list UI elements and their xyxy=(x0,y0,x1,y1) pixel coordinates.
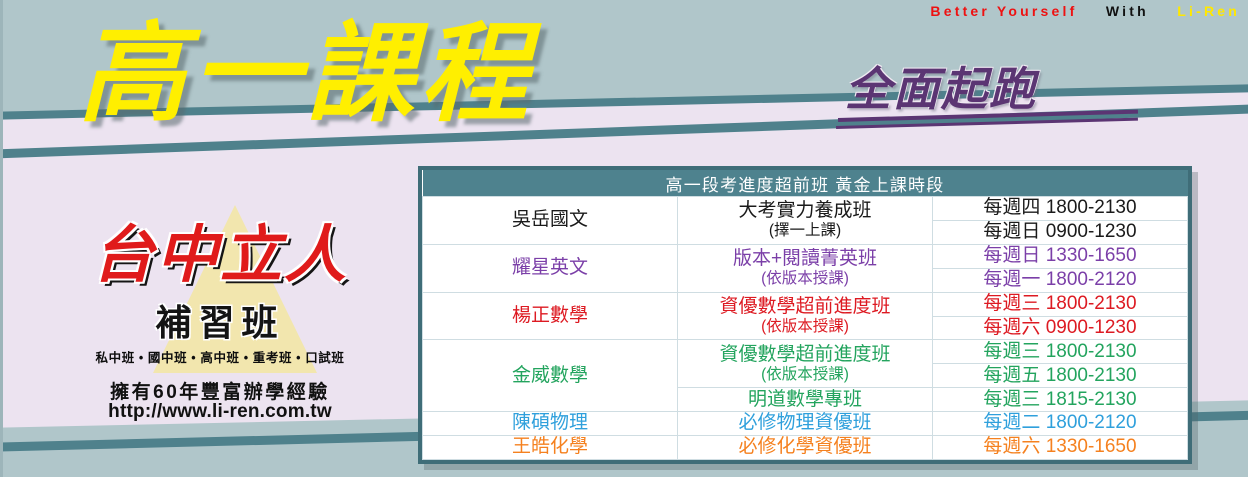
teacher-cell: 耀星英文 xyxy=(423,244,678,292)
course-name: 版本+閱讀菁英班 xyxy=(733,248,877,269)
time-slot-cell: 每週六 0900-1230 xyxy=(933,316,1188,340)
course-cell: 必修化學資優班 xyxy=(678,436,933,460)
schedule-table-head: 高一段考進度超前班 黃金上課時段 xyxy=(423,170,1188,197)
table-row: 王皓化學必修化學資優班每週六 1330-1650 xyxy=(423,436,1188,460)
time-slot-cell: 每週三 1815-2130 xyxy=(933,388,1188,412)
schedule-header-title: 高一段考進度超前班 黃金上課時段 xyxy=(423,170,1188,197)
course-name: 資優數學超前進度班 xyxy=(719,344,890,365)
logo-experience-text: 擁有60年豐富辦學經驗 xyxy=(55,377,385,404)
course-cell: 資優數學超前進度班(依版本授課) xyxy=(678,340,933,388)
teacher-cell: 楊正數學 xyxy=(423,292,678,340)
tagline-yellow: Li-Ren xyxy=(1177,3,1240,19)
page-title: 高一課程 xyxy=(78,18,534,131)
schedule-table: 高一段考進度超前班 黃金上課時段 吳岳國文大考實力養成班(擇一上課)每週四 18… xyxy=(422,170,1188,460)
table-row: 陳碩物理必修物理資優班每週二 1800-2120 xyxy=(423,412,1188,436)
teacher-cell: 金威數學 xyxy=(423,340,678,412)
course-cell: 版本+閱讀菁英班(依版本授課) xyxy=(678,244,933,292)
tagline-red: Better Yourself xyxy=(930,3,1077,19)
tagline-black: With xyxy=(1106,3,1149,19)
course-name: 明道數學專班 xyxy=(748,389,862,410)
time-slot-cell: 每週五 1800-2130 xyxy=(933,364,1188,388)
table-row: 吳岳國文大考實力養成班(擇一上課)每週四 1800-2130 xyxy=(423,197,1188,221)
course-cell: 資優數學超前進度班(依版本授課) xyxy=(678,292,933,340)
logo-class-types: 私中班 • 國中班 • 高中班 • 重考班 • 口試班 xyxy=(55,347,385,366)
course-note: (依版本授課) xyxy=(680,270,930,288)
course-name: 必修物理資優班 xyxy=(738,412,871,433)
teacher-cell: 陳碩物理 xyxy=(423,412,678,436)
table-row: 耀星英文版本+閱讀菁英班(依版本授課)每週日 1330-1650 xyxy=(423,244,1188,268)
teacher-cell: 王皓化學 xyxy=(423,436,678,460)
logo-brand-name: 台中立人 xyxy=(55,219,385,290)
table-row: 楊正數學資優數學超前進度班(依版本授課)每週三 1800-2130 xyxy=(423,292,1188,316)
time-slot-cell: 每週四 1800-2130 xyxy=(933,197,1188,221)
logo-brand-subname: 補習班 xyxy=(55,302,385,345)
schedule-table-body: 吳岳國文大考實力養成班(擇一上課)每週四 1800-2130每週日 0900-1… xyxy=(423,197,1188,460)
time-slot-cell: 每週二 1800-2120 xyxy=(933,412,1188,436)
course-cell: 明道數學專班 xyxy=(678,388,933,412)
course-name: 大考實力養成班 xyxy=(738,200,871,221)
left-edge xyxy=(0,0,3,477)
schedule-table-container: 高一段考進度超前班 黃金上課時段 吳岳國文大考實力養成班(擇一上課)每週四 18… xyxy=(418,166,1192,464)
page-subtitle: 全面起跑 xyxy=(845,64,1037,115)
course-cell: 大考實力養成班(擇一上課) xyxy=(678,197,933,245)
course-note: (擇一上課) xyxy=(680,222,930,240)
course-name: 資優數學超前進度班 xyxy=(719,296,890,317)
teacher-cell: 吳岳國文 xyxy=(423,197,678,245)
brand-logo: 台中立人 補習班 私中班 • 國中班 • 高中班 • 重考班 • 口試班 擁有6… xyxy=(55,205,385,415)
course-name: 必修化學資優班 xyxy=(738,436,871,457)
course-note: (依版本授課) xyxy=(680,366,930,384)
time-slot-cell: 每週三 1800-2130 xyxy=(933,340,1188,364)
table-row: 金威數學資優數學超前進度班(依版本授課)每週三 1800-2130 xyxy=(423,340,1188,364)
time-slot-cell: 每週六 1330-1650 xyxy=(933,436,1188,460)
logo-website-url[interactable]: http://www.li-ren.com.tw xyxy=(55,401,385,423)
time-slot-cell: 每週一 1800-2120 xyxy=(933,268,1188,292)
time-slot-cell: 每週日 0900-1230 xyxy=(933,220,1188,244)
poster-canvas: Better Yourself With Li-Ren 高一課程 全面起跑 台中… xyxy=(0,0,1248,477)
time-slot-cell: 每週日 1330-1650 xyxy=(933,244,1188,268)
tagline: Better Yourself With Li-Ren xyxy=(640,1,1240,21)
course-note: (依版本授課) xyxy=(680,318,930,336)
time-slot-cell: 每週三 1800-2130 xyxy=(933,292,1188,316)
table-header-row: 高一段考進度超前班 黃金上課時段 xyxy=(423,170,1188,197)
course-cell: 必修物理資優班 xyxy=(678,412,933,436)
